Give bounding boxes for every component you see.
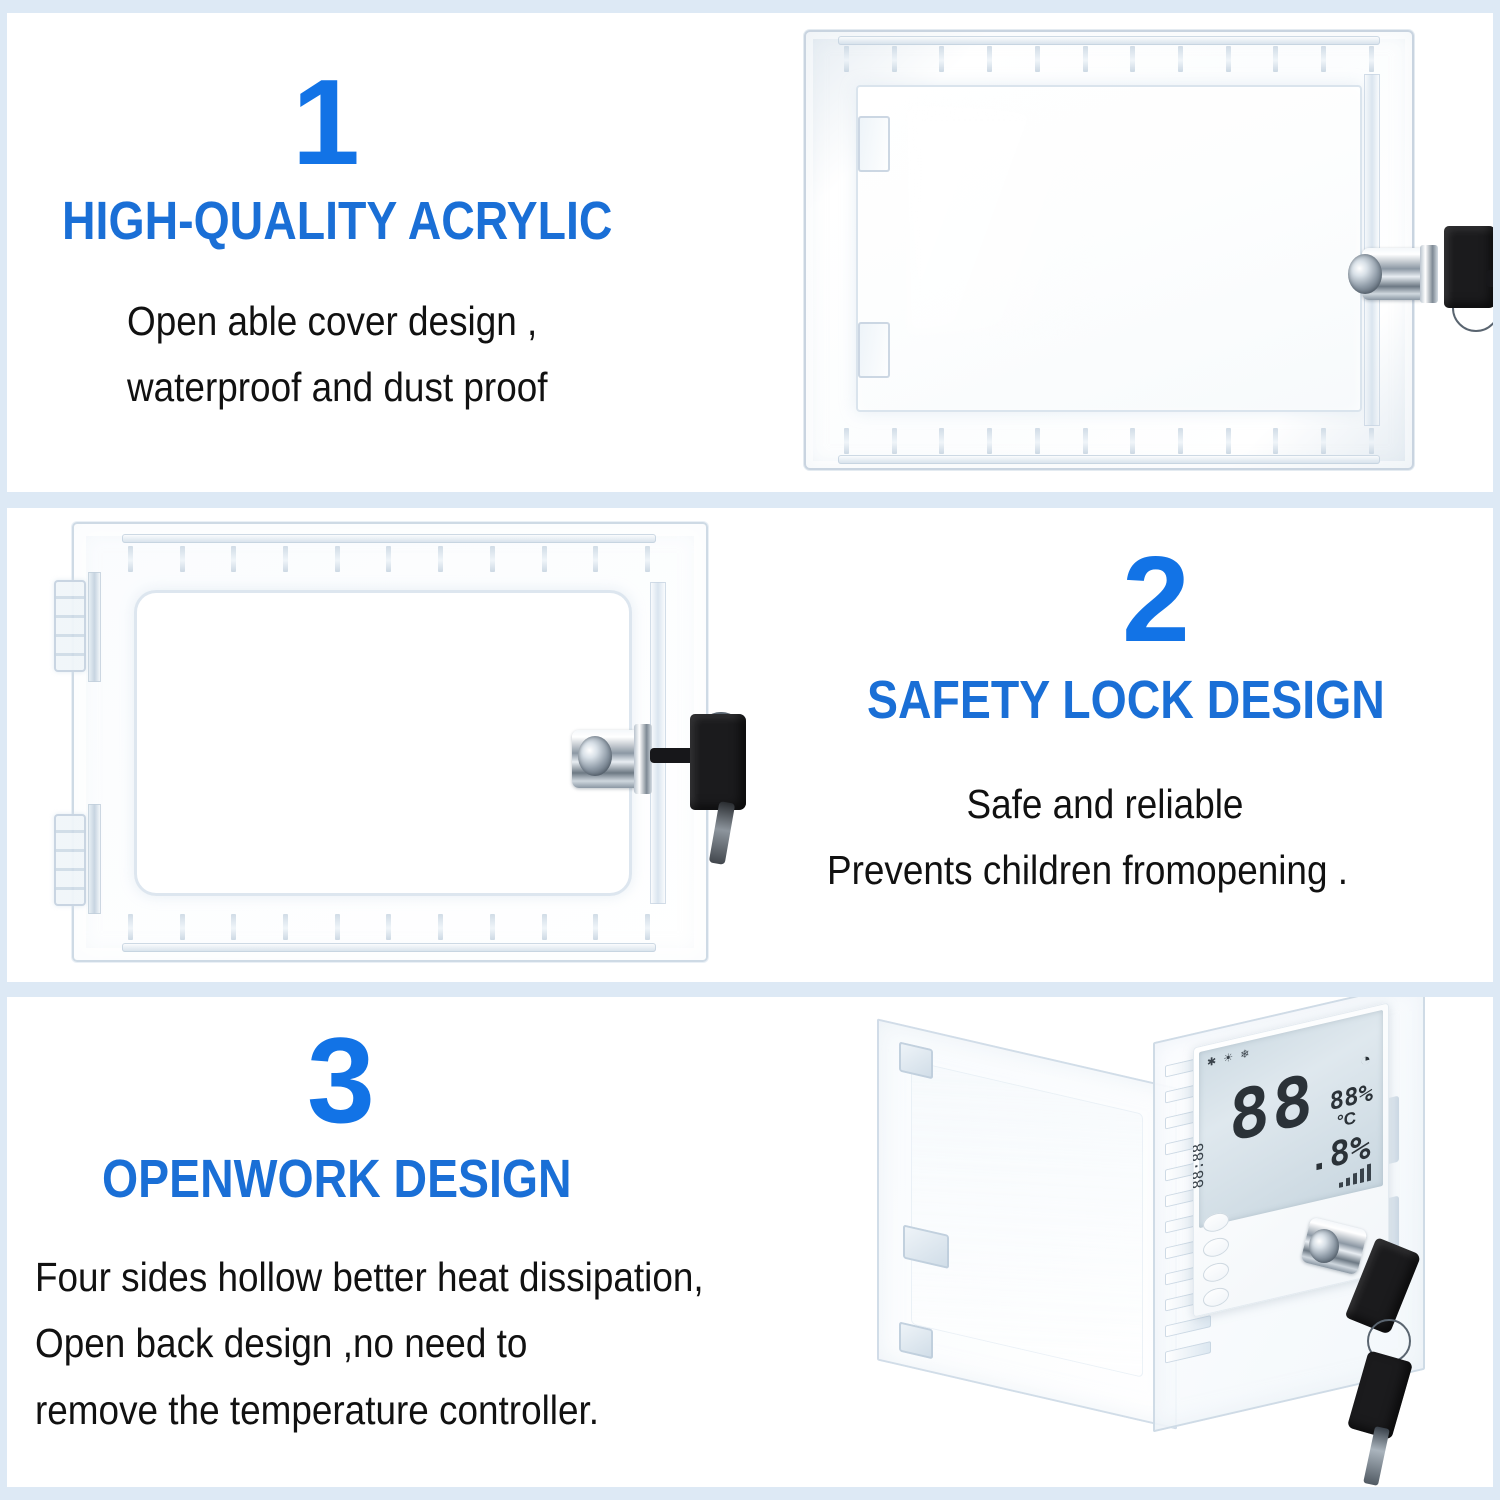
feature-3-text: 3 OPENWORK DESIGN Four sides hollow bett… <box>32 1019 912 1443</box>
hinge-post-upper <box>88 572 101 682</box>
product-photo-inside-view <box>42 508 802 982</box>
thermostat-lcd-screen: ✱ ☀ ❄ 88 °C 88% ◔ .8% 88:88 <box>1199 1010 1383 1228</box>
mount-tab-lower <box>858 322 890 378</box>
feature-1-text: 1 HIGH-QUALITY ACRYLIC Open able cover d… <box>47 61 747 421</box>
step-body-2-line-1: Safe and reliable <box>967 771 1440 837</box>
feature-panel-1: 1 HIGH-QUALITY ACRYLIC Open able cover d… <box>7 13 1493 492</box>
lock-cylinder-icon <box>578 736 612 776</box>
feature-2-text: 2 SAFETY LOCK DESIGN Safe and reliable P… <box>807 538 1493 904</box>
key-shaft-icon <box>1363 1426 1390 1486</box>
vent-bar-bottom <box>122 943 656 952</box>
lock-assembly-2 <box>572 706 802 846</box>
door-clip-bottom <box>899 1321 933 1359</box>
door-clip-top <box>899 1041 933 1079</box>
step-body-3-line-3: remove the temperature controller. <box>35 1377 824 1443</box>
lock-cylinder-icon <box>1348 254 1382 294</box>
acrylic-inner-window <box>134 590 632 896</box>
key-head-icon <box>1444 226 1493 308</box>
lcd-status-icons: ✱ ☀ ❄ <box>1207 1046 1251 1069</box>
key-tip-icon <box>709 801 736 865</box>
lock-assembly-3 <box>1305 1215 1493 1445</box>
product-photo-open-with-thermostat: ✱ ☀ ❄ 88 °C 88% ◔ .8% 88:88 <box>857 997 1493 1487</box>
thermostat-button-group[interactable] <box>1203 1210 1229 1309</box>
vent-ribs-bottom <box>128 910 650 944</box>
lock-cylinder-icon <box>1309 1229 1339 1263</box>
lock-assembly-1 <box>1346 214 1493 334</box>
acrylic-box-front <box>804 30 1414 470</box>
thermostat-button-power[interactable] <box>1203 1260 1229 1284</box>
key-blade-icon <box>1486 270 1493 287</box>
wifi-icon: ◔ <box>1360 1049 1371 1073</box>
step-number-2: 2 <box>1122 538 1493 660</box>
step-number-1: 1 <box>292 61 747 183</box>
hinge-post-lower <box>88 804 101 914</box>
key-head-icon <box>690 714 746 810</box>
hinge-bottom-icon <box>54 814 86 906</box>
step-body-1-line-1: Open able cover design , <box>127 288 685 354</box>
door-reflection <box>911 1060 1143 1378</box>
feature-panel-2: 2 SAFETY LOCK DESIGN Safe and reliable P… <box>7 508 1493 982</box>
feature-panel-3: 3 OPENWORK DESIGN Four sides hollow bett… <box>7 997 1493 1487</box>
vent-ribs-top <box>128 542 650 576</box>
thermostat-button-down[interactable] <box>1203 1235 1229 1259</box>
step-body-3-line-2: Open back design ,no need to <box>35 1310 824 1376</box>
mount-tab-upper <box>858 116 890 172</box>
step-body-3-line-1: Four sides hollow better heat dissipatio… <box>35 1244 824 1310</box>
acrylic-door-panel <box>877 1018 1177 1429</box>
step-heading-1: HIGH-QUALITY ACRYLIC <box>62 193 651 250</box>
hinge-top-icon <box>54 580 86 672</box>
step-heading-2: SAFETY LOCK DESIGN <box>867 672 1417 729</box>
lcd-clock-value: 88:88 <box>1193 1141 1207 1190</box>
step-heading-3: OPENWORK DESIGN <box>102 1151 799 1208</box>
step-body-2-line-2: Prevents children fromopening . <box>827 837 1439 903</box>
step-number-3: 3 <box>307 1019 912 1141</box>
product-infographic: 1 HIGH-QUALITY ACRYLIC Open able cover d… <box>0 0 1500 1500</box>
step-body-1: Open able cover design , waterproof and … <box>127 288 685 421</box>
step-body-1-line-2: waterproof and dust proof <box>127 354 685 420</box>
vent-bar-bottom <box>838 455 1380 464</box>
product-photo-front-view <box>786 18 1493 488</box>
step-body-3: Four sides hollow better heat dissipatio… <box>35 1244 824 1443</box>
lcd-humidity-value: 88% <box>1330 1078 1373 1116</box>
vent-ribs-bottom <box>844 424 1374 458</box>
thermostat-button-timer[interactable] <box>1203 1285 1229 1309</box>
lcd-temperature-value: 88 <box>1229 1065 1315 1153</box>
lock-nut-icon <box>1420 245 1438 303</box>
vent-ribs-top <box>844 42 1374 76</box>
step-body-2: Safe and reliable Prevents children from… <box>827 771 1439 904</box>
acrylic-inner-face <box>856 85 1362 412</box>
